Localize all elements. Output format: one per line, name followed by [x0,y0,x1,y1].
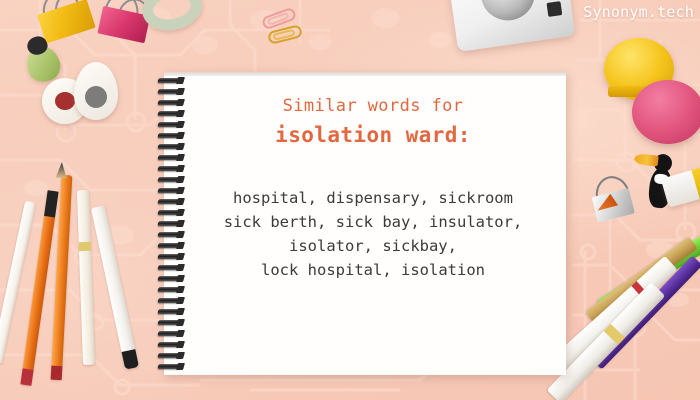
synonym-list: hospital, dispensary, sickroom sick bert… [192,186,554,282]
macaron-pink [632,80,700,144]
synonym-line: hospital, dispensary, sickroom [192,186,554,210]
notebook: Similar words for isolation ward: hospit… [158,72,566,375]
screenshot-root: Similar words for isolation ward: hospit… [0,0,700,400]
synonym-line: isolator, sickbay, [192,234,554,258]
synonym-line: lock hospital, isolation [192,258,554,282]
page-title: isolation ward: [192,120,554,150]
synonym-line: sick berth, sick bay, insulator, [192,210,554,234]
page-top-edge [164,72,566,76]
eraser-white-oval [74,62,118,120]
page-kicker: Similar words for [192,94,554,118]
page-content: Similar words for isolation ward: hospit… [192,94,554,282]
site-watermark: Synonym.tech [583,3,694,21]
spiral-binding [158,76,184,372]
